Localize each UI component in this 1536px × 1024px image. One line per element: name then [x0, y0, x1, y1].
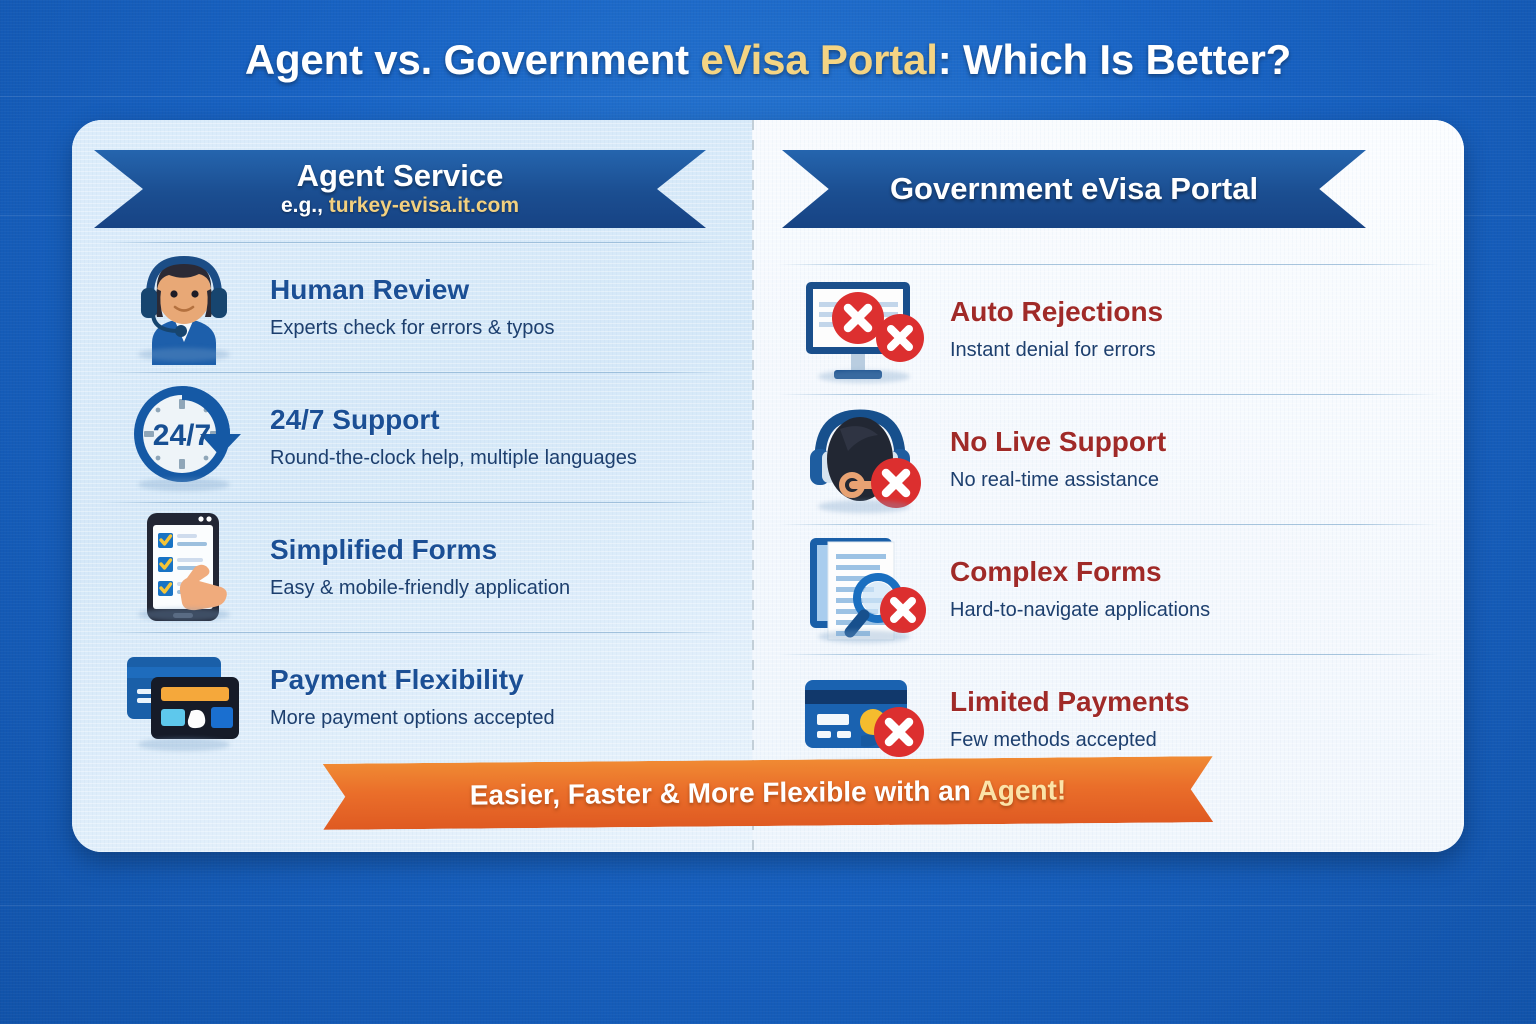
page-title-part2: : Which Is Better?: [938, 36, 1291, 83]
feature-text: Human Review Experts check for errors & …: [266, 274, 555, 339]
feature-text: Limited Payments Few methods accepted: [946, 686, 1190, 751]
government-portal-panel: Government eVisa Portal: [752, 120, 1464, 852]
feature-text: No Live Support No real-time assistance: [946, 426, 1166, 491]
page-title-highlight: eVisa Portal: [700, 36, 937, 83]
clock-label: 24/7: [153, 419, 211, 452]
cta-text-highlight: Agent!: [977, 774, 1066, 806]
government-portal-banner: Government eVisa Portal: [782, 150, 1366, 228]
agent-service-banner-title: Agent Service: [297, 160, 504, 193]
monitor-rejected-icon: [782, 269, 946, 389]
government-portal-banner-title: Government eVisa Portal: [890, 173, 1258, 206]
page-title-part1: Agent vs. Government: [245, 36, 701, 83]
clock-24-7-icon: 24/7: [102, 377, 266, 497]
feature-subtitle: Experts check for errors & typos: [270, 316, 555, 340]
background-line: [0, 905, 1536, 906]
banner-sub-prefix: e.g.,: [281, 194, 329, 217]
feature-title: Limited Payments: [950, 686, 1190, 718]
feature-title: No Live Support: [950, 426, 1166, 458]
feature-subtitle: Hard-to-navigate applications: [950, 598, 1210, 622]
agent-service-banner: Agent Service e.g., turkey-evisa.it.com: [94, 150, 706, 228]
document-magnifier-icon: [782, 529, 946, 649]
feature-subtitle: Few methods accepted: [950, 728, 1190, 752]
feature-text: Complex Forms Hard-to-navigate applicati…: [946, 556, 1210, 621]
panel-divider: [752, 120, 754, 852]
agent-service-banner-subtitle: e.g., turkey-evisa.it.com: [281, 194, 519, 218]
cta-banner: Easier, Faster & More Flexible with an A…: [323, 756, 1214, 830]
comparison-card: Agent Service e.g., turkey-evisa.it.com: [72, 120, 1464, 852]
cta-banner-wrap: Easier, Faster & More Flexible with an A…: [72, 760, 1464, 826]
feature-subtitle: No real-time assistance: [950, 468, 1166, 492]
feature-title: Human Review: [270, 274, 555, 306]
feature-title: Simplified Forms: [270, 534, 570, 566]
feature-row: Simplified Forms Easy & mobile-friendly …: [72, 502, 752, 632]
feature-title: Auto Rejections: [950, 296, 1163, 328]
feature-row: No Live Support No real-time assistance: [752, 394, 1464, 524]
background-line: [0, 96, 1536, 97]
feature-title: 24/7 Support: [270, 404, 637, 436]
support-agent-headset-icon: [102, 247, 266, 367]
feature-row: Payment Flexibility More payment options…: [72, 632, 752, 762]
agent-feature-list: Human Review Experts check for errors & …: [72, 228, 752, 762]
feature-title: Payment Flexibility: [270, 664, 555, 696]
feature-row: Auto Rejections Instant denial for error…: [752, 264, 1464, 394]
feature-row: Human Review Experts check for errors & …: [72, 242, 752, 372]
feature-subtitle: Round-the-clock help, multiple languages: [270, 446, 637, 470]
cta-text: Easier, Faster & More Flexible with an A…: [470, 774, 1067, 811]
cta-text-prefix: Easier, Faster & More Flexible with an: [470, 775, 978, 810]
feature-text: Auto Rejections Instant denial for error…: [946, 296, 1163, 361]
tablet-checklist-hand-icon: [102, 507, 266, 627]
feature-text: Payment Flexibility More payment options…: [266, 664, 555, 729]
government-feature-list: Auto Rejections Instant denial for error…: [752, 228, 1464, 784]
feature-row: Complex Forms Hard-to-navigate applicati…: [752, 524, 1464, 654]
credit-cards-icon: [102, 637, 266, 757]
agent-website-url: turkey-evisa.it.com: [329, 194, 519, 217]
feature-row: 24/7 24/7 Support Round-the-clock help, …: [72, 372, 752, 502]
feature-subtitle: Easy & mobile-friendly application: [270, 576, 570, 600]
feature-subtitle: Instant denial for errors: [950, 338, 1163, 362]
feature-subtitle: More payment options accepted: [270, 706, 555, 730]
page-title: Agent vs. Government eVisa Portal: Which…: [0, 36, 1536, 84]
agent-service-panel: Agent Service e.g., turkey-evisa.it.com: [72, 120, 752, 852]
feature-text: 24/7 Support Round-the-clock help, multi…: [266, 404, 637, 469]
headset-disabled-icon: [782, 399, 946, 519]
feature-title: Complex Forms: [950, 556, 1210, 588]
feature-text: Simplified Forms Easy & mobile-friendly …: [266, 534, 570, 599]
